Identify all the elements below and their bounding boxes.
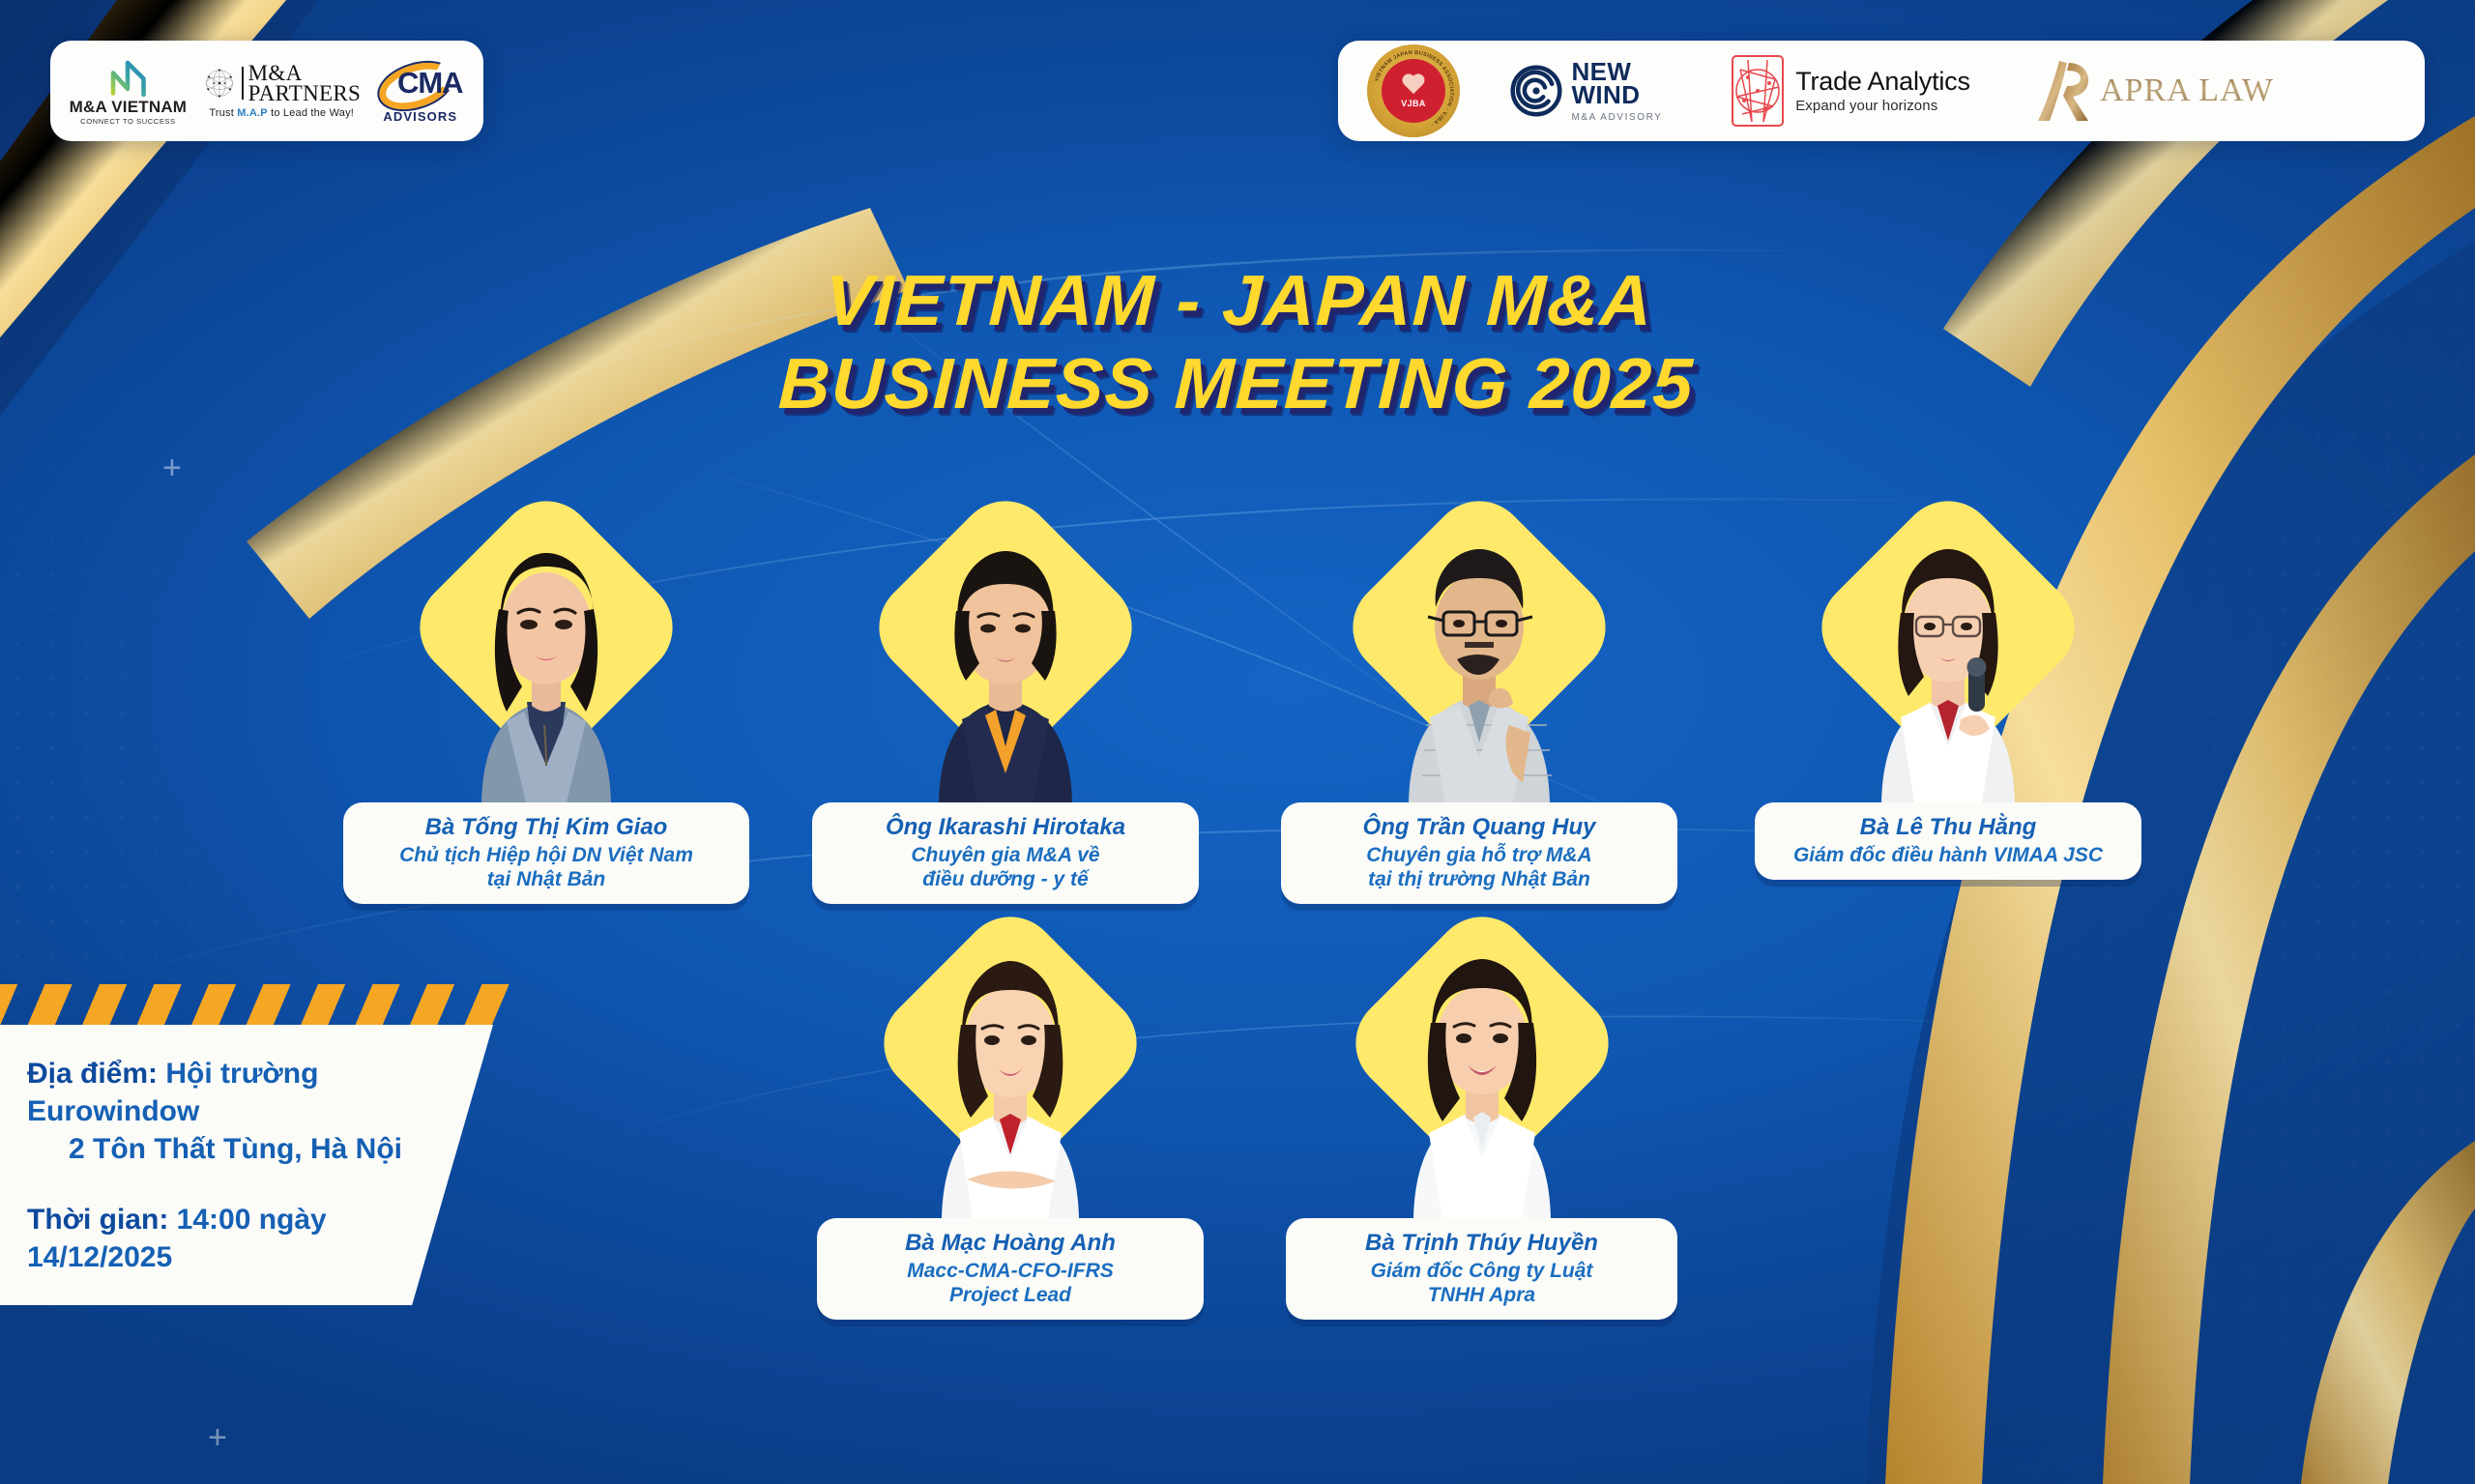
speaker-role-line2: tại Nhật Bản [359,867,734,891]
speaker-card-2: Ông Ikarashi Hirotaka Chuyên gia M&A về … [812,483,1199,904]
heart-icon [1401,74,1426,98]
spiral-wind-icon [1510,65,1562,117]
info-spacer [27,1168,437,1201]
speaker-name: Bà Mạc Hoàng Anh [832,1230,1188,1258]
speaker-namecard-2: Ông Ikarashi Hirotaka Chuyên gia M&A về … [812,802,1199,904]
logo-bar-left: M&A VIETNAM CONNECT TO SUCCESS [50,41,483,141]
vjba-seal-icon: VIETNAM JAPAN BUSINESS ASSOCIATION · VJB… [1367,44,1460,137]
new-wind-tagline: M&A ADVISORY [1571,113,1662,122]
ma-partners-tagline: Trust M.A.P to Lead the Way! [209,107,354,119]
logo-bar-right: VIETNAM JAPAN BUSINESS ASSOCIATION · VJB… [1338,41,2425,141]
speaker-photo-1 [401,483,691,802]
speaker-namecard-1: Bà Tống Thị Kim Giao Chủ tịch Hiệp hội D… [343,802,749,904]
speaker-namecard-3: Ông Trần Quang Huy Chuyên gia hỗ trợ M&A… [1281,802,1677,904]
speaker-card-6: Bà Trịnh Thúy Huyền Giám đốc Công ty Luậ… [1286,899,1677,1320]
logo-ma-vietnam: M&A VIETNAM CONNECT TO SUCCESS [64,41,192,141]
speaker-role-line1: Chuyên gia M&A về [828,843,1183,867]
portrait-illustration-5 [899,899,1121,1218]
time-label: Thời gian: [27,1204,168,1236]
poster-canvas: + + M&A VIETNAM CONNECT TO SUCCESS [0,0,2475,1484]
speaker-name: Bà Trịnh Thúy Huyền [1301,1230,1662,1258]
speaker-card-5: Bà Mạc Hoàng Anh Macc-CMA-CFO-IFRS Proje… [817,899,1204,1320]
ma-vietnam-arrow-logo-icon [105,57,150,98]
logo-apra-law: APRA LAW [2009,41,2299,141]
new-wind-line2: WIND [1571,83,1662,106]
speaker-card-3: Ông Trần Quang Huy Chuyên gia hỗ trợ M&A… [1281,483,1677,904]
portrait-illustration-2 [894,483,1117,802]
speaker-photo-6 [1337,899,1627,1218]
venue-line: Địa điểm: Hội trường Eurowindow [27,1055,437,1130]
speaker-role-line2: Project Lead [832,1283,1188,1307]
logo-trade-analytics: Trade Analytics Expand your horizons [1705,41,1995,141]
warning-stripe-decoration [0,984,512,1027]
trade-analytics-grid-icon [1731,54,1785,128]
trade-analytics-tagline: Expand your horizons [1795,99,1970,114]
venue-line-2: 2 Tôn Thất Tùng, Hà Nội [27,1130,437,1168]
page-title: VIETNAM - JAPAN M&A BUSINESS MEETING 202… [0,259,2475,425]
portrait-illustration-6 [1371,899,1593,1218]
speaker-card-1: Bà Tống Thị Kim Giao Chủ tịch Hiệp hội D… [343,483,749,904]
ma-vietnam-tagline: CONNECT TO SUCCESS [80,118,176,126]
apra-law-name: APRA LAW [2100,73,2274,109]
venue-label: Địa điểm: [27,1058,158,1090]
portrait-illustration-4 [1837,483,2059,802]
apra-law-monogram-icon [2034,57,2098,125]
speaker-role-line1: Giám đốc điều hành VIMAA JSC [1770,843,2126,867]
ma-partners-line2: PARTNERS [248,83,362,103]
title-line-2: BUSINESS MEETING 2025 [0,342,2475,425]
portrait-illustration-3 [1368,483,1590,802]
speaker-namecard-4: Bà Lê Thu Hằng Giám đốc điều hành VIMAA … [1755,802,2141,880]
ma-partners-line1: M&A [248,63,362,83]
time-line: Thời gian: 14:00 ngày 14/12/2025 [27,1201,437,1276]
speaker-namecard-5: Bà Mạc Hoàng Anh Macc-CMA-CFO-IFRS Proje… [817,1218,1204,1320]
ma-vietnam-name: M&A VIETNAM [70,99,188,115]
speaker-name: Bà Lê Thu Hằng [1770,814,2126,842]
speaker-name: Ông Trần Quang Huy [1296,814,1662,842]
logo-vjba: VIETNAM JAPAN BUSINESS ASSOCIATION · VJB… [1359,41,1468,141]
logo-new-wind: NEW WIND M&A ADVISORY [1481,41,1692,141]
trade-analytics-name: Trade Analytics [1795,68,1970,95]
cma-name: CMA [384,67,477,100]
speaker-name: Bà Tống Thị Kim Giao [359,814,734,842]
speaker-role-line2: tại thị trường Nhật Bản [1296,867,1662,891]
speaker-role-line1: Giám đốc Công ty Luật [1301,1259,1662,1283]
logo-ma-partners: M&A PARTNERS Trust M.A.P to Lead the Way… [198,41,365,141]
speaker-photo-3 [1334,483,1624,802]
cma-swoosh-icon: CMA [374,59,467,113]
speaker-photo-2 [860,483,1150,802]
logo-cma-advisors: CMA ADVISORS [371,41,470,141]
speaker-role-line1: Chủ tịch Hiệp hội DN Việt Nam [359,843,734,867]
plus-decoration-icon: + [162,450,182,487]
plus-decoration-icon: + [208,1419,227,1457]
event-info-box: Địa điểm: Hội trường Eurowindow 2 Tôn Th… [0,1025,493,1305]
speaker-photo-4 [1803,483,2093,802]
globe-network-icon [202,66,237,101]
speaker-role-line2: TNHH Apra [1301,1283,1662,1307]
speaker-role-line1: Macc-CMA-CFO-IFRS [832,1259,1188,1283]
speaker-card-4: Bà Lê Thu Hằng Giám đốc điều hành VIMAA … [1755,483,2141,880]
portrait-illustration-1 [435,483,657,802]
speaker-role-line2: điều dưỡng - y tế [828,867,1183,891]
speaker-name: Ông Ikarashi Hirotaka [828,814,1183,842]
logo-divider [242,67,243,100]
title-line-1: VIETNAM - JAPAN M&A [0,259,2475,342]
speaker-namecard-6: Bà Trịnh Thúy Huyền Giám đốc Công ty Luậ… [1286,1218,1677,1320]
speaker-photo-5 [865,899,1155,1218]
speaker-role-line1: Chuyên gia hỗ trợ M&A [1296,843,1662,867]
